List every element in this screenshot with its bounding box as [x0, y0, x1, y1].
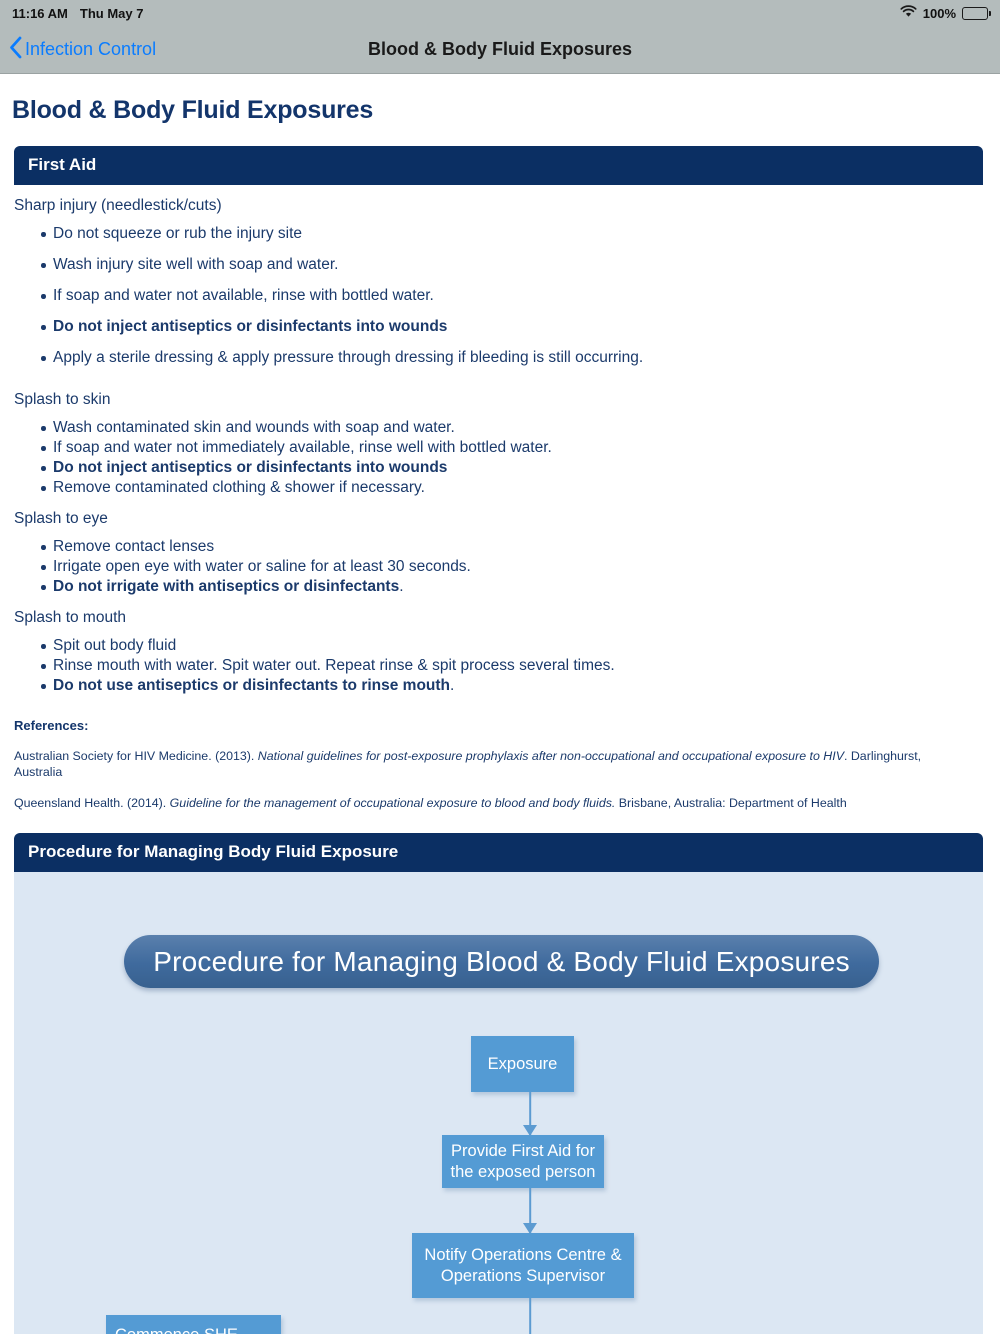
chevron-left-icon — [9, 36, 22, 64]
first-aid-subheading: Sharp injury (needlestick/cuts) — [14, 185, 983, 215]
status-bar-right: 100% — [900, 5, 988, 21]
navigation-bar: Infection Control Blood & Body Fluid Exp… — [0, 26, 1000, 74]
first-aid-list-item: Do not inject antiseptics or disinfectan… — [14, 458, 983, 478]
references-list: Australian Society for HIV Medicine. (20… — [14, 733, 983, 811]
page-title: Blood & Body Fluid Exposures — [0, 74, 1000, 125]
wifi-icon — [900, 5, 917, 21]
first-aid-item-emphasis: Do not inject antiseptics or disinfectan… — [53, 318, 447, 335]
first-aid-list-item: Spit out body fluid — [14, 636, 983, 656]
first-aid-header: First Aid — [14, 146, 983, 185]
first-aid-list-item: Do not squeeze or rub the injury site — [14, 224, 983, 244]
first-aid-list-item: Remove contact lenses — [14, 537, 983, 557]
flow-arrow-notify-to-supervisor — [522, 1298, 538, 1334]
first-aid-subheading: Splash to eye — [14, 498, 983, 528]
first-aid-list-item: Wash contaminated skin and wounds with s… — [14, 418, 983, 438]
first-aid-body: Sharp injury (needlestick/cuts)Do not sq… — [14, 185, 983, 811]
first-aid-list-item: Rinse mouth with water. Spit water out. … — [14, 656, 983, 676]
reference-publisher: Brisbane, Australia: Department of Healt… — [615, 796, 846, 810]
first-aid-sections: Sharp injury (needlestick/cuts)Do not sq… — [14, 185, 983, 696]
status-time: 11:16 AM — [12, 6, 68, 21]
first-aid-list-item: If soap and water not available, rinse w… — [14, 286, 983, 306]
first-aid-item-emphasis: Do not inject antiseptics or disinfectan… — [53, 459, 447, 476]
reference-author: Queensland Health. (2014). — [14, 796, 170, 810]
status-bar: 11:16 AM Thu May 7 100% — [0, 0, 1000, 26]
first-aid-list: Spit out body fluidRinse mouth with wate… — [14, 636, 983, 696]
flowchart: Procedure for Managing Blood & Body Flui… — [14, 872, 983, 1334]
page-content: Blood & Body Fluid Exposures First Aid S… — [0, 74, 1000, 1334]
procedure-panel: Procedure for Managing Body Fluid Exposu… — [14, 833, 983, 1334]
flow-node-she-report[interactable]: Commence SHE report as soon as practicab… — [106, 1315, 281, 1334]
first-aid-panel: First Aid Sharp injury (needlestick/cuts… — [14, 146, 983, 811]
first-aid-list-item: Do not inject antiseptics or disinfectan… — [14, 317, 983, 337]
battery-percent-label: 100% — [923, 6, 956, 21]
battery-full-icon — [962, 7, 988, 20]
flow-node-exposure[interactable]: Exposure — [471, 1036, 574, 1092]
first-aid-subheading: Splash to skin — [14, 379, 983, 409]
procedure-header: Procedure for Managing Body Fluid Exposu… — [14, 833, 983, 872]
flow-node-first-aid[interactable]: Provide First Aid for the exposed person — [442, 1135, 604, 1188]
first-aid-item-emphasis: Do not irrigate with antiseptics or disi… — [53, 578, 399, 595]
first-aid-list: Remove contact lensesIrrigate open eye w… — [14, 537, 983, 597]
first-aid-list-item: Remove contaminated clothing & shower if… — [14, 478, 983, 498]
first-aid-item-emphasis: Do not use antiseptics or disinfectants … — [53, 677, 450, 694]
first-aid-list: Do not squeeze or rub the injury siteWas… — [14, 224, 983, 368]
first-aid-list-item: Apply a sterile dressing & apply pressur… — [14, 348, 983, 368]
flow-node-notify[interactable]: Notify Operations Centre & Operations Su… — [412, 1233, 634, 1298]
first-aid-subheading: Splash to mouth — [14, 597, 983, 627]
reference-entry: Queensland Health. (2014). Guideline for… — [14, 780, 954, 811]
first-aid-list-item: If soap and water not immediately availa… — [14, 438, 983, 458]
back-button-label: Infection Control — [25, 39, 156, 60]
first-aid-list-item: Irrigate open eye with water or saline f… — [14, 557, 983, 577]
first-aid-list-item: Do not irrigate with antiseptics or disi… — [14, 577, 983, 597]
first-aid-list-item: Wash injury site well with soap and wate… — [14, 255, 983, 275]
flow-arrow-exposure-to-first-aid — [522, 1092, 538, 1135]
flowchart-title: Procedure for Managing Blood & Body Flui… — [124, 935, 879, 988]
first-aid-list: Wash contaminated skin and wounds with s… — [14, 418, 983, 498]
reference-entry: Australian Society for HIV Medicine. (20… — [14, 733, 954, 780]
reference-title: National guidelines for post-exposure pr… — [258, 749, 844, 763]
first-aid-list-item: Do not use antiseptics or disinfectants … — [14, 676, 983, 696]
back-button[interactable]: Infection Control — [0, 36, 156, 64]
reference-author: Australian Society for HIV Medicine. (20… — [14, 749, 258, 763]
flow-arrow-first-aid-to-notify — [522, 1188, 538, 1233]
references-label: References: — [14, 696, 983, 733]
reference-title: Guideline for the management of occupati… — [170, 796, 616, 810]
status-date: Thu May 7 — [80, 6, 144, 21]
status-bar-left: 11:16 AM Thu May 7 — [12, 6, 143, 21]
